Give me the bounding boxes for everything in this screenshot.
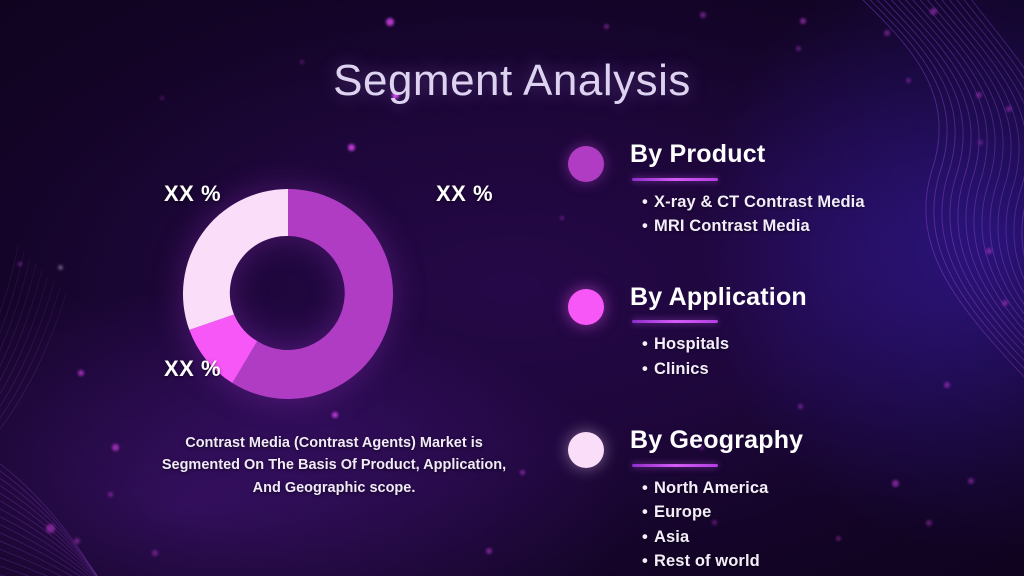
list-item: Asia <box>642 525 990 549</box>
segment-heading: By Application <box>630 283 990 312</box>
segment-heading: By Geography <box>630 426 990 455</box>
donut-label-top-left: XX % <box>164 181 221 207</box>
donut-chart: XX % XX % XX % Contrast Media (Contrast … <box>140 150 530 440</box>
segment-by-geography: By Geography North America Europe Asia R… <box>560 426 990 573</box>
segment-item-list: Hospitals Clinics <box>642 332 990 381</box>
chart-caption: Contrast Media (Contrast Agents) Market … <box>152 432 516 499</box>
circle-bullet-icon <box>568 432 604 468</box>
donut-slice-by-geography <box>183 189 288 330</box>
page-title: Segment Analysis <box>0 56 1024 106</box>
segment-legend: By Product X-ray & CT Contrast Media MRI… <box>560 140 990 574</box>
segment-item-list: North America Europe Asia Rest of world <box>642 476 990 574</box>
donut-label-bottom-left: XX % <box>164 356 221 382</box>
segment-underline <box>632 320 718 323</box>
donut-label-top-right: XX % <box>436 181 493 207</box>
segment-underline <box>632 178 718 181</box>
segment-underline <box>632 464 718 467</box>
list-item: North America <box>642 476 990 500</box>
list-item: Europe <box>642 500 990 524</box>
segment-item-list: X-ray & CT Contrast Media MRI Contrast M… <box>642 190 990 239</box>
list-item: MRI Contrast Media <box>642 214 990 238</box>
segment-by-application: By Application Hospitals Clinics <box>560 283 990 382</box>
circle-bullet-icon <box>568 146 604 182</box>
list-item: X-ray & CT Contrast Media <box>642 190 990 214</box>
segment-by-product: By Product X-ray & CT Contrast Media MRI… <box>560 140 990 239</box>
list-item: Rest of world <box>642 549 990 573</box>
circle-bullet-icon <box>568 289 604 325</box>
list-item: Hospitals <box>642 332 990 356</box>
list-item: Clinics <box>642 357 990 381</box>
slide-canvas: Segment Analysis XX % XX % XX % Contrast… <box>0 0 1024 576</box>
segment-heading: By Product <box>630 140 990 169</box>
